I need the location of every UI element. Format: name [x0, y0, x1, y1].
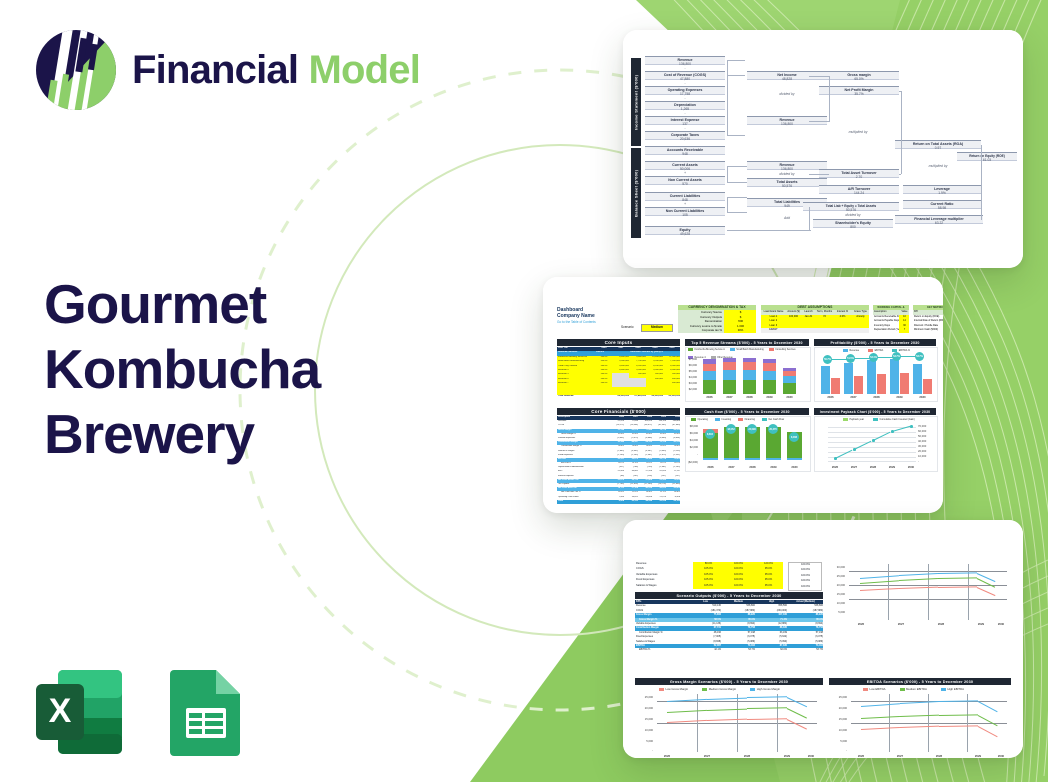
connector-multiplied-by-2: multiplied by: [895, 164, 981, 168]
operator-minus-2: -: [645, 81, 725, 85]
node-revenue: Revenue 136,800: [645, 56, 725, 65]
table-row[interactable]: Cash8,80426,33244,29460,02468,180: [557, 500, 680, 504]
connector-divided-by-1: divided by: [747, 92, 827, 96]
panel-header-core-inputs: Core Inputs: [557, 339, 680, 346]
scenario-selector[interactable]: Medium: [641, 324, 673, 332]
microsoft-excel-icon[interactable]: X: [30, 662, 130, 767]
dashboard-toc-link[interactable]: Go to the Table of Contents: [557, 320, 596, 324]
core-inputs-table: Cost Tier 2026 2027 2028 2029 2030 Reven…: [557, 347, 680, 400]
brand-logo: Financial Model: [34, 28, 420, 112]
node-current-liabilities: Current Liabilities 848: [645, 192, 725, 201]
panel-header-scenario-outputs: Scenario Outputs ($'000) - 5 Years to De…: [635, 592, 823, 599]
node-interest-expense: Interest Expense 137: [645, 116, 725, 125]
section-label-income-statement: Income Statement ($'000): [631, 58, 641, 146]
cash-flow-legend: Operating Investing Financing Net Cash F…: [691, 418, 784, 421]
currency-denomination-table: Currency Source$ Currency Outputs$ Denom…: [678, 310, 756, 333]
panel-header-investment-payback: Investment Payback Chart ($'000) - 5 Yea…: [814, 408, 936, 415]
svg-text:X: X: [49, 692, 72, 730]
node-accounts-receivable: Accounts Receivable 948: [645, 146, 725, 155]
panel-header-cash-flow: Cash flow ($'000) - 5 Years to December …: [685, 408, 809, 415]
node-net-profit-margin: Net Profit Margin 35.7%: [819, 86, 899, 95]
scenario-actual-column: 100.0%100.0%100.0%100.0%100.0%: [788, 562, 822, 591]
panel-header-profitability: Profitability ($'000) - 5 Years to Decem…: [814, 339, 936, 346]
node-corporate-taxes: Corporate Taxes 20,636: [645, 131, 725, 140]
brand-name-part1: Financial: [132, 48, 298, 92]
node-current-assets: Current Assets 50,006: [645, 161, 725, 170]
google-sheets-icon[interactable]: [156, 662, 256, 767]
scenarios-card[interactable]: Revenue80.0%100.0%120.0%COGS105.0%100.0%…: [623, 520, 1023, 758]
dashboard-card[interactable]: Dashboard Company Name Go to the Table o…: [543, 277, 943, 513]
panel-header-gross-margin-scenarios: Gross Margin Scenarios ($'000) - 5 Years…: [635, 678, 823, 685]
brand-wordmark: Financial Model: [132, 50, 420, 90]
operator-minus-5: -: [645, 126, 725, 130]
operator-minus-1: -: [645, 66, 725, 70]
node-return-on-total-assets: Return on Total Assets (ROA) 0.97: [895, 140, 981, 149]
table-row[interactable]: GRANT: [761, 328, 869, 333]
operator-plus-2: +: [645, 202, 725, 206]
page-title: Gourmet Kombucha Brewery: [44, 272, 404, 467]
gross-margin-legend: Low Gross Margin Medium Gross Margin Hig…: [659, 687, 780, 691]
dashboard-company-name: Company Name: [557, 313, 595, 319]
brand-name-part2: Model: [309, 48, 421, 92]
node-total-assets: Total Assets 50,576: [747, 178, 827, 187]
ratio-tree-sheet: Income Statement ($'000) Balance Sheet (…: [623, 30, 1023, 268]
table-row[interactable]: EBITDA %42.1%53.7%62.0%53.7%: [635, 648, 823, 652]
scenario-overview-chart: [829, 562, 1011, 626]
node-non-current-assets: Non Current Assets 570: [645, 176, 725, 185]
scenarios-sheet: Revenue80.0%100.0%120.0%COGS105.0%100.0%…: [623, 520, 1023, 758]
dashboard-sheet: Dashboard Company Name Go to the Table o…: [543, 277, 943, 513]
financial-model-circle-bars-logo: [34, 28, 118, 112]
connector-divided-by-3: divided by: [813, 213, 893, 217]
core-financials-table: Description 2026 2027 2028 2029 2030 Rev…: [557, 416, 680, 504]
operator-minus-4: -: [645, 111, 725, 115]
title-line-1: Gourmet: [44, 272, 404, 337]
node-total-asset-turnover: Total Asset Turnover 2.70: [819, 169, 899, 178]
node-opex: Operating Expenses 17,758: [645, 86, 725, 95]
panel-header-ebitda-scenarios: EBITDA Scenarios ($'000) - 5 Years to De…: [829, 678, 1011, 685]
scenario-outputs-table: KPIs Low Medium High Actual (Medium) Rev…: [635, 600, 823, 653]
file-format-icons: X: [30, 662, 256, 767]
payback-legend: Payback year Cumulative Cash Invested (G…: [843, 418, 915, 421]
node-current-ratio: Current Ratio 58.98: [903, 200, 981, 209]
node-non-current-liabilities: Non Current Liabilities 105: [645, 207, 725, 216]
node-revenue-3: Revenue 136,800: [747, 161, 827, 170]
node-gross-margin: Gross margin 65.0%: [819, 71, 899, 80]
panel-header-revenue-streams: Top 5 Revenue Streams ($'000) - 5 Years …: [685, 339, 809, 346]
poster-canvas: Financial Model Gourmet Kombucha Brewery…: [0, 0, 1048, 782]
table-row: 100.0%: [789, 585, 821, 590]
node-equity: Equity 49,628: [645, 226, 725, 235]
node-shareholders-equity: Shareholder's Equity 800: [813, 219, 893, 228]
node-total-liab-equity: Total Liab + Equity = Total Assets 50,57…: [803, 202, 899, 211]
section-label-balance-sheet: Balance Sheet ($'000): [631, 148, 641, 238]
node-financial-leverage-multiplier: Financial Leverage multiplier 63.22: [895, 215, 983, 224]
panel-header-core-financials: Core Financials ($'000): [557, 408, 680, 415]
scenario-label: Scenario: [621, 325, 634, 329]
node-cogs: Cost of Revenue (COGS) 47,880: [645, 71, 725, 80]
title-line-2: Kombucha: [44, 337, 404, 402]
profitability-legend: Revenue EBITDA EBITDA %: [843, 349, 910, 352]
operator-plus-1: +: [645, 171, 725, 175]
title-line-3: Brewery: [44, 402, 404, 467]
financial-ratio-tree-card[interactable]: Income Statement ($'000) Balance Sheet (…: [623, 30, 1023, 268]
connector-multiplied-by-1: multiplied by: [813, 130, 903, 134]
node-ar-turnover: A/R Turnover 144.24: [819, 185, 899, 194]
node-leverage: Leverage 1.9%: [903, 185, 981, 194]
node-depreciation: Depreciation 1,265: [645, 101, 725, 110]
node-return-on-equity: Return on Equity (ROE) 61.03: [957, 152, 1017, 161]
operator-minus-3: -: [645, 96, 725, 100]
ebitda-legend: Low EBITDA Medium EBITDA High EBITDA: [863, 687, 964, 691]
